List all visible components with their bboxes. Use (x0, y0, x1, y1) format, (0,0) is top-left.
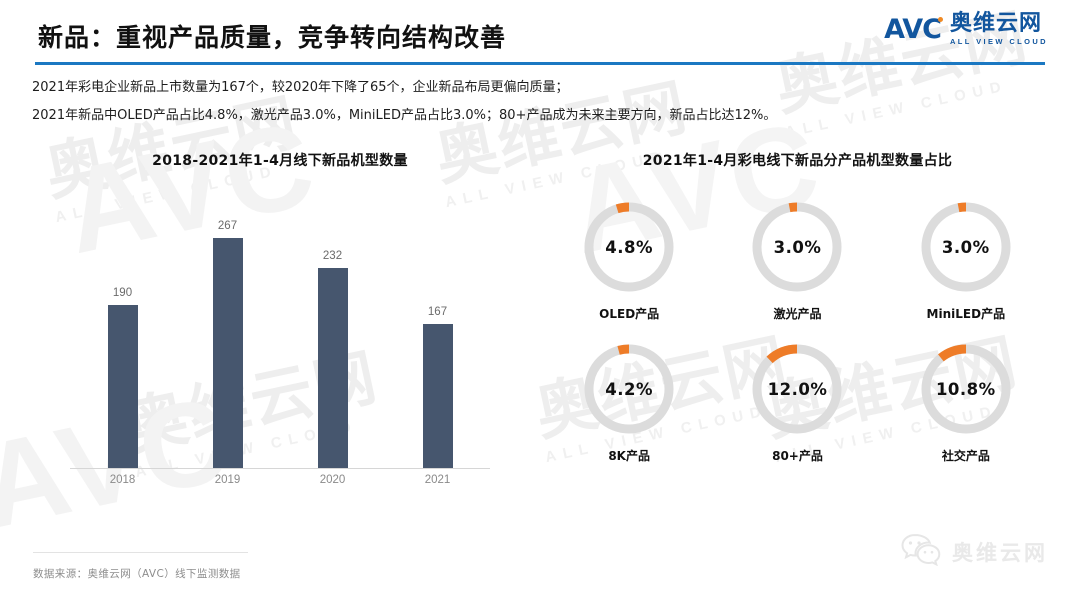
donut-value-label: 10.8% (917, 340, 1015, 438)
donut-cell: 10.8%社交产品 (882, 340, 1050, 464)
summary-line-1: 2021年彩电企业新品上市数量为167个，较2020年下降了65个，企业新品布局… (32, 80, 1032, 96)
page-title: 新品：重视产品质量，竞争转向结构改善 (38, 18, 506, 54)
donut-chart: 3.0% (917, 198, 1015, 296)
bar-rect (108, 305, 138, 468)
logo-name-cn: 奥维云网 (950, 13, 1048, 35)
summary-text: 2021年彩电企业新品上市数量为167个，较2020年下降了65个，企业新品布局… (32, 80, 1032, 137)
donut-category-label: 激光产品 (773, 305, 821, 322)
bar-chart-panel: 2018-2021年1-4月线下新品机型数量 190267232167 2018… (30, 150, 530, 550)
bar-rect (423, 324, 453, 468)
data-source-note: 数据来源：奥维云网（AVC）线下监测数据 (33, 566, 241, 581)
bar-column: 190 (80, 210, 166, 468)
donut-value-label: 12.0% (748, 340, 846, 438)
header-divider (35, 62, 1045, 65)
brand-logo: AVC 奥维云网 ALL VIEW CLOUD (884, 13, 1048, 46)
wechat-account-name: 奥维云网 (952, 537, 1048, 567)
donut-value-label: 4.8% (580, 198, 678, 296)
footer-divider (33, 552, 248, 553)
bar-category-label: 2019 (185, 474, 271, 486)
donut-value-label: 4.2% (580, 340, 678, 438)
bar-column: 267 (185, 210, 271, 468)
donut-category-label: 8K产品 (608, 447, 650, 464)
wechat-icon (900, 532, 942, 571)
bar-rect (318, 268, 348, 468)
donut-cell: 4.2%8K产品 (545, 340, 713, 464)
page-header: 新品：重视产品质量，竞争转向结构改善 AVC 奥维云网 ALL VIEW CLO… (0, 0, 1080, 70)
donut-category-label: 80+产品 (772, 447, 823, 464)
bar-value-label: 190 (113, 287, 132, 299)
logo-dot-icon (938, 17, 943, 22)
bar-rect (213, 238, 243, 468)
summary-line-2: 2021年新品中OLED产品占比4.8%，激光产品3.0%，MiniLED产品占… (32, 108, 1032, 124)
donut-chart: 12.0% (748, 340, 846, 438)
donut-chart: 3.0% (748, 198, 846, 296)
bar-category-label: 2021 (395, 474, 481, 486)
bar-value-label: 267 (218, 220, 237, 232)
donut-category-label: 社交产品 (942, 447, 990, 464)
bar-category-label: 2018 (80, 474, 166, 486)
donut-cell: 3.0%激光产品 (713, 198, 881, 322)
donut-chart: 10.8% (917, 340, 1015, 438)
donut-value-label: 3.0% (748, 198, 846, 296)
donut-chart-title: 2021年1-4月彩电线下新品分产品机型数量占比 (545, 150, 1050, 170)
bar-chart-plot: 190267232167 2018201920202021 (70, 210, 490, 500)
bar-category-label: 2020 (290, 474, 376, 486)
bar-chart-title: 2018-2021年1-4月线下新品机型数量 (30, 150, 530, 170)
donut-chart-panel: 2021年1-4月彩电线下新品分产品机型数量占比 4.8%OLED产品3.0%激… (545, 150, 1050, 550)
bar-value-label: 232 (323, 250, 342, 262)
slide-root: 奥维云网 ALL VIEW CLOUD 奥维云网 ALL VIEW CLOUD … (0, 0, 1080, 608)
donut-chart: 4.8% (580, 198, 678, 296)
donut-cell: 12.0%80+产品 (713, 340, 881, 464)
logo-name-en: ALL VIEW CLOUD (950, 38, 1048, 46)
bar-column: 167 (395, 210, 481, 468)
donut-cell: 3.0%MiniLED产品 (882, 198, 1050, 322)
logo-wordmark: 奥维云网 ALL VIEW CLOUD (950, 13, 1048, 46)
donut-chart: 4.2% (580, 340, 678, 438)
donut-value-label: 3.0% (917, 198, 1015, 296)
logo-avc-mark: AVC (884, 16, 941, 43)
donut-cell: 4.8%OLED产品 (545, 198, 713, 322)
bar-value-label: 167 (428, 306, 447, 318)
donut-category-label: MiniLED产品 (927, 305, 1006, 322)
bar-chart-axis (70, 468, 490, 469)
wechat-badge: 奥维云网 (900, 532, 1048, 571)
bar-column: 232 (290, 210, 376, 468)
donut-category-label: OLED产品 (599, 305, 659, 322)
